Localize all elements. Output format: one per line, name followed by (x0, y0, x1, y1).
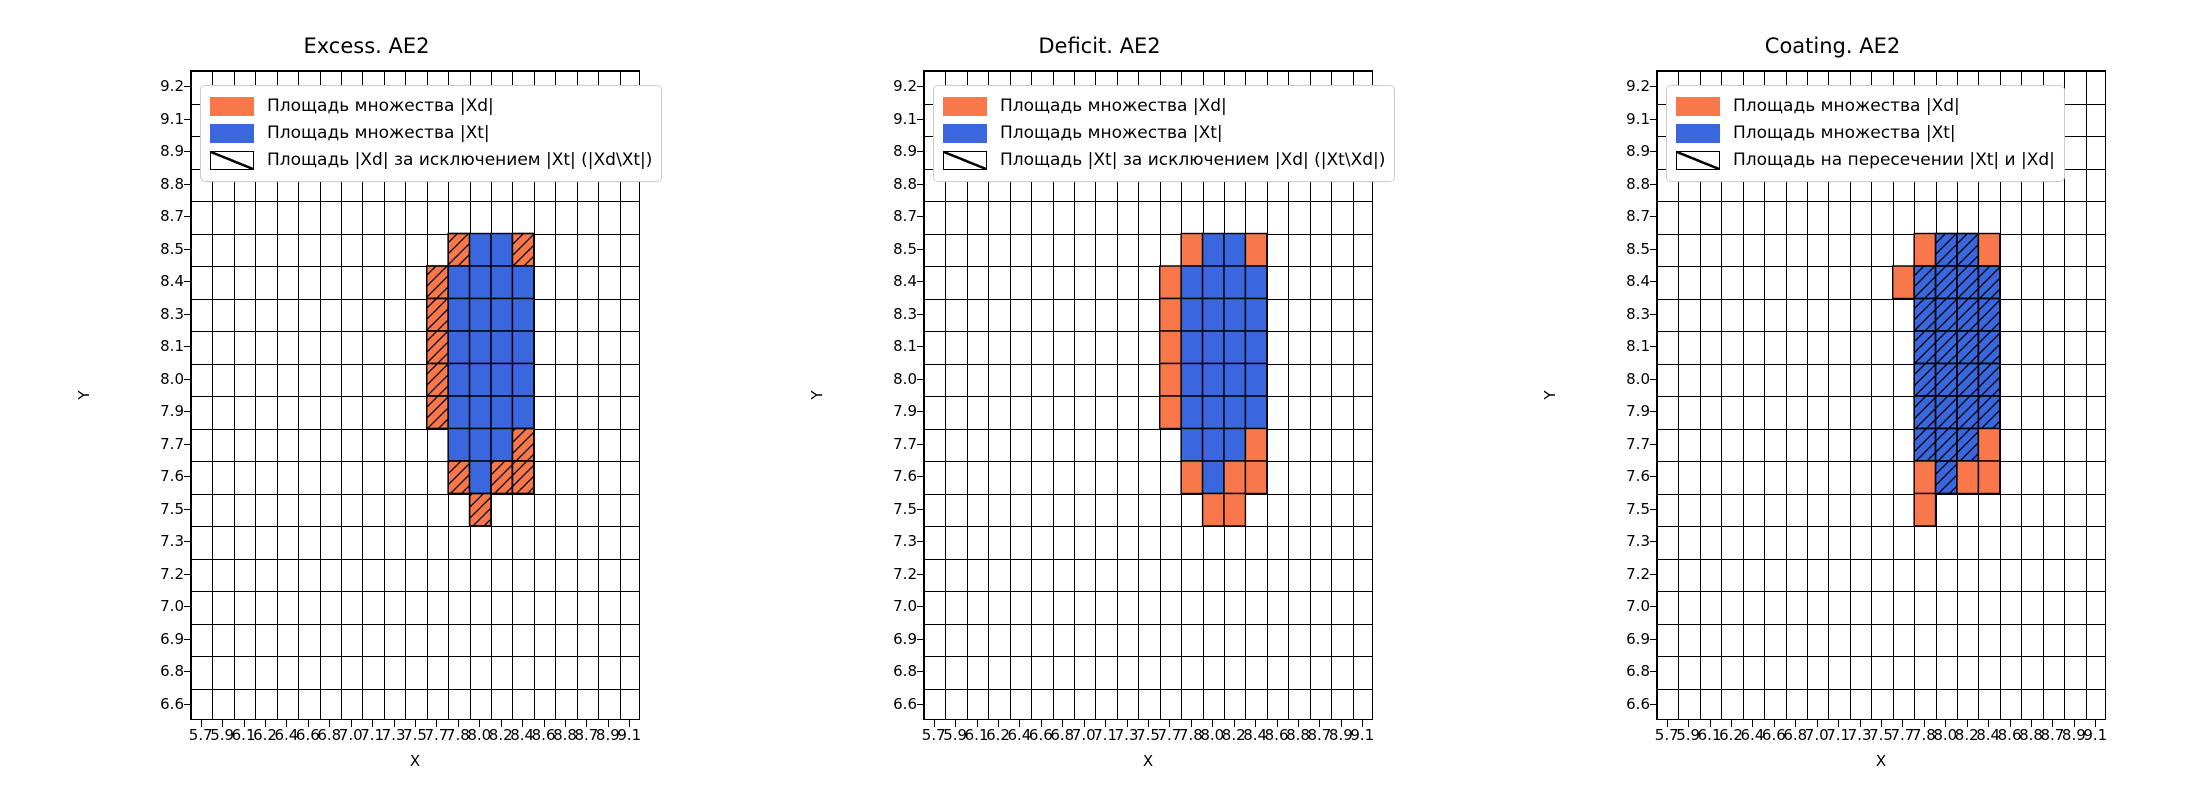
data-cell (1181, 396, 1202, 429)
y-tick-mark (184, 704, 191, 705)
data-cell (1978, 234, 1999, 267)
data-cell-hatch (1978, 299, 1999, 332)
data-cell-hatch (470, 494, 491, 527)
data-cell-hatch (427, 331, 448, 364)
data-cell (1203, 494, 1224, 527)
legend-swatch-xd-icon (943, 97, 987, 116)
x-tick-mark (1127, 720, 1128, 727)
y-tick-mark (1650, 184, 1657, 185)
x-tick-mark (1860, 720, 1861, 727)
y-tick-label: 7.3 (160, 532, 184, 550)
y-tick-mark (1650, 509, 1657, 510)
data-cell (1203, 396, 1224, 429)
data-cell (1224, 331, 1245, 364)
x-tick-mark (1255, 720, 1256, 727)
x-tick-mark (977, 720, 978, 727)
y-tick-label: 7.5 (893, 500, 917, 518)
data-cell-hatch (1957, 266, 1978, 299)
x-tick-mark (565, 720, 566, 727)
y-tick-label: 7.7 (160, 435, 184, 453)
y-tick-labels: 9.29.18.98.88.78.58.48.38.18.07.97.77.67… (863, 70, 917, 720)
y-tick-label: 7.2 (160, 565, 184, 583)
data-cell (1978, 461, 1999, 494)
x-tick-mark (351, 720, 352, 727)
x-tick-mark (415, 720, 416, 727)
x-tick-mark (1795, 720, 1796, 727)
data-cell (448, 331, 469, 364)
data-cell (1245, 234, 1266, 267)
data-cell (491, 266, 512, 299)
x-tick-label: 8.9 (596, 726, 620, 744)
data-cell-hatch (1914, 299, 1935, 332)
data-cell (1245, 364, 1266, 397)
data-cells (427, 234, 534, 527)
legend-label: Площадь |Xt| за исключением |Xd| (|Xt\Xd… (1000, 151, 1385, 170)
y-tick-mark (1650, 476, 1657, 477)
x-tick-mark (1084, 720, 1085, 727)
data-cell (1203, 429, 1224, 462)
y-tick-mark (917, 574, 924, 575)
data-cell (1160, 299, 1181, 332)
y-tick-label: 6.6 (893, 695, 917, 713)
data-cell (448, 299, 469, 332)
data-cell (1978, 429, 1999, 462)
data-cell-hatch (1936, 266, 1957, 299)
data-cell (1914, 494, 1935, 527)
data-cell (491, 364, 512, 397)
data-cell (1181, 234, 1202, 267)
data-cell (512, 266, 533, 299)
data-cell (1160, 266, 1181, 299)
y-tick-mark (917, 346, 924, 347)
x-tick-mark (1341, 720, 1342, 727)
x-tick-mark (522, 720, 523, 727)
data-cell-hatch (1957, 396, 1978, 429)
y-tick-mark (184, 574, 191, 575)
data-cell-hatch (1978, 364, 1999, 397)
x-tick-label: 9.1 (1350, 726, 1374, 744)
data-cell-hatch (1936, 331, 1957, 364)
data-cell (491, 234, 512, 267)
x-tick-label: 8.0 (1933, 726, 1957, 744)
x-tick-label: 6.6 (296, 726, 320, 744)
y-tick-mark (917, 411, 924, 412)
x-tick-mark (1902, 720, 1903, 727)
y-tick-mark (184, 151, 191, 152)
legend-label: Площадь множества |Xd| (1733, 97, 1960, 116)
x-tick-label: 6.2 (986, 726, 1010, 744)
x-tick-mark (1752, 720, 1753, 727)
data-cell (448, 266, 469, 299)
x-tick-mark (501, 720, 502, 727)
y-tick-mark (917, 639, 924, 640)
y-tick-label: 8.7 (1626, 207, 1650, 225)
y-tick-mark (1650, 671, 1657, 672)
data-cell (1224, 429, 1245, 462)
x-tick-mark (2031, 720, 2032, 727)
y-tick-label: 8.3 (160, 305, 184, 323)
x-tick-mark (1731, 720, 1732, 727)
y-tick-mark (917, 216, 924, 217)
legend-label: Площадь множества |Xd| (267, 97, 494, 116)
x-tick-label: 9.1 (2083, 726, 2107, 744)
data-cell (1245, 331, 1266, 364)
y-tick-mark (917, 671, 924, 672)
y-tick-mark (917, 704, 924, 705)
y-tick-mark (917, 509, 924, 510)
x-tick-label: 8.0 (467, 726, 491, 744)
y-tick-mark (917, 606, 924, 607)
data-cell-hatch (1914, 331, 1935, 364)
y-tick-label: 8.3 (893, 305, 917, 323)
y-tick-mark (1650, 541, 1657, 542)
data-cell (470, 331, 491, 364)
x-tick-mark (1319, 720, 1320, 727)
data-cell-hatch (448, 461, 469, 494)
data-cell (1160, 396, 1181, 429)
x-tick-label: 6.2 (253, 726, 277, 744)
y-tick-label: 8.9 (160, 142, 184, 160)
data-cell-hatch (427, 364, 448, 397)
y-tick-label: 7.7 (893, 435, 917, 453)
x-tick-label: 5.9 (1676, 726, 1700, 744)
y-tick-label: 6.9 (893, 630, 917, 648)
y-tick-label: 8.5 (893, 240, 917, 258)
data-cell (470, 299, 491, 332)
data-cell-hatch (1936, 234, 1957, 267)
x-tick-label: 7.7 (1157, 726, 1181, 744)
panel-title: Excess. AE2 (0, 34, 733, 58)
x-tick-mark (308, 720, 309, 727)
y-tick-mark (184, 444, 191, 445)
legend: Площадь множества |Xd| Площадь множества… (933, 85, 1395, 182)
legend-item[interactable]: Площадь |Xd| за исключением |Xt| (|Xd\Xt… (210, 147, 652, 174)
x-tick-mark (201, 720, 202, 727)
x-tick-label: 7.7 (1890, 726, 1914, 744)
x-tick-mark (934, 720, 935, 727)
x-tick-label: 7.8 (1912, 726, 1936, 744)
legend-swatch-hatch-icon (943, 151, 987, 170)
x-tick-label: 6.1 (965, 726, 989, 744)
x-tick-mark (244, 720, 245, 727)
data-cell (1224, 461, 1245, 494)
data-cell-hatch (512, 461, 533, 494)
y-tick-label: 7.0 (1626, 597, 1650, 615)
y-tick-label: 8.7 (160, 207, 184, 225)
x-tick-mark (1277, 720, 1278, 727)
x-tick-label: 8.2 (1222, 726, 1246, 744)
data-cell (491, 396, 512, 429)
x-tick-label: 8.4 (510, 726, 534, 744)
x-tick-label: 7.1 (1093, 726, 1117, 744)
y-tick-mark (1650, 639, 1657, 640)
y-tick-label: 9.1 (160, 110, 184, 128)
panel-excess: Excess. AE2 Y 9.29.18.98.88.78.58.48.38.… (0, 0, 733, 800)
legend-item[interactable]: Площадь множества |Xt| (943, 120, 1385, 147)
legend-label: Площадь множества |Xt| (1733, 124, 1956, 143)
x-tick-labels: 5.75.96.16.26.46.66.87.07.17.37.57.77.88… (923, 726, 1373, 750)
y-tick-mark (1650, 606, 1657, 607)
x-tick-label: 8.2 (1955, 726, 1979, 744)
x-tick-mark (2095, 720, 2096, 727)
data-cell (470, 266, 491, 299)
data-cell (448, 396, 469, 429)
x-tick-mark (1710, 720, 1711, 727)
y-tick-labels: 9.29.18.98.88.78.58.48.38.18.07.97.77.67… (130, 70, 184, 720)
data-cell-hatch (1936, 429, 1957, 462)
x-tick-mark (1838, 720, 1839, 727)
y-tick-mark (184, 86, 191, 87)
y-tick-label: 6.9 (160, 630, 184, 648)
x-tick-label: 6.6 (1029, 726, 1053, 744)
data-cell (470, 461, 491, 494)
x-tick-mark (1967, 720, 1968, 727)
y-tick-mark (917, 476, 924, 477)
legend-item[interactable]: Площадь множества |Xt| (1676, 120, 2055, 147)
y-axis-label: Y (808, 390, 826, 399)
data-cell (1957, 461, 1978, 494)
legend-swatch-xt-icon (943, 124, 987, 143)
x-tick-label: 5.9 (210, 726, 234, 744)
x-tick-label: 8.7 (574, 726, 598, 744)
data-cell-hatch (1936, 364, 1957, 397)
data-cell (512, 299, 533, 332)
legend-item[interactable]: Площадь множества |Xt| (210, 120, 652, 147)
x-tick-label: 8.9 (2062, 726, 2086, 744)
data-cell-hatch (512, 234, 533, 267)
y-tick-label: 8.3 (1626, 305, 1650, 323)
x-tick-label: 8.8 (1286, 726, 1310, 744)
data-cell (1160, 331, 1181, 364)
x-axis-label: X (923, 752, 1373, 770)
x-tick-mark (1148, 720, 1149, 727)
y-tick-mark (917, 249, 924, 250)
x-tick-label: 8.6 (1265, 726, 1289, 744)
x-tick-mark (2052, 720, 2053, 727)
legend-label: Площадь множества |Xd| (1000, 97, 1227, 116)
y-tick-mark (184, 379, 191, 380)
x-tick-mark (1881, 720, 1882, 727)
legend-swatch-hatch-icon (1676, 151, 1720, 170)
x-tick-label: 7.1 (360, 726, 384, 744)
y-tick-mark (184, 119, 191, 120)
x-tick-label: 7.3 (1115, 726, 1139, 744)
data-cell (1203, 266, 1224, 299)
x-tick-label: 8.7 (2040, 726, 2064, 744)
x-tick-label: 6.4 (1007, 726, 1031, 744)
y-tick-label: 8.4 (893, 272, 917, 290)
data-cell (1203, 331, 1224, 364)
y-tick-mark (184, 346, 191, 347)
x-tick-mark (329, 720, 330, 727)
x-tick-label: 6.1 (232, 726, 256, 744)
x-tick-label: 6.8 (1050, 726, 1074, 744)
x-tick-mark (1688, 720, 1689, 727)
x-tick-label: 5.7 (922, 726, 946, 744)
x-tick-mark (394, 720, 395, 727)
x-tick-label: 8.8 (2019, 726, 2043, 744)
y-tick-label: 8.1 (160, 337, 184, 355)
legend-item[interactable]: Площадь на пересечении |Xt| и |Xd| (1676, 147, 2055, 174)
data-cell (470, 396, 491, 429)
x-tick-label: 7.0 (1072, 726, 1096, 744)
y-tick-mark (184, 249, 191, 250)
x-tick-label: 8.9 (1329, 726, 1353, 744)
y-tick-mark (1650, 314, 1657, 315)
x-axis-label: X (190, 752, 640, 770)
y-tick-label: 7.0 (893, 597, 917, 615)
data-cell (491, 299, 512, 332)
x-tick-mark (1924, 720, 1925, 727)
x-tick-label: 7.0 (1805, 726, 1829, 744)
x-tick-labels: 5.75.96.16.26.46.66.87.07.17.37.57.77.88… (1656, 726, 2106, 750)
data-cell-hatch (1957, 299, 1978, 332)
y-tick-mark (1650, 86, 1657, 87)
y-tick-label: 7.9 (1626, 402, 1650, 420)
x-tick-mark (458, 720, 459, 727)
x-tick-label: 6.2 (1719, 726, 1743, 744)
y-tick-mark (184, 281, 191, 282)
y-tick-label: 8.1 (893, 337, 917, 355)
legend-swatch-xd-icon (210, 97, 254, 116)
data-cell (1893, 266, 1914, 299)
x-tick-label: 6.4 (1740, 726, 1764, 744)
legend-item[interactable]: Площадь множества |Xd| (210, 93, 652, 120)
y-tick-label: 8.5 (1626, 240, 1650, 258)
y-tick-mark (184, 216, 191, 217)
y-tick-mark (1650, 379, 1657, 380)
x-tick-mark (222, 720, 223, 727)
y-tick-label: 8.7 (893, 207, 917, 225)
data-cell (1203, 234, 1224, 267)
panel-deficit: Deficit. AE2 Y 9.29.18.98.88.78.58.48.38… (733, 0, 1466, 800)
x-tick-mark (629, 720, 630, 727)
y-tick-label: 7.3 (1626, 532, 1650, 550)
data-cell-hatch (448, 234, 469, 267)
data-cell (491, 331, 512, 364)
x-tick-label: 7.5 (1869, 726, 1893, 744)
x-tick-mark (1191, 720, 1192, 727)
legend: Площадь множества |Xd| Площадь множества… (200, 85, 662, 182)
panel-coating: Coating. AE2 Y 9.29.18.98.88.78.58.48.38… (1466, 0, 2199, 800)
y-tick-label: 6.8 (160, 662, 184, 680)
x-tick-mark (1062, 720, 1063, 727)
data-cells (1160, 234, 1267, 527)
x-tick-label: 8.6 (1998, 726, 2022, 744)
data-cell (470, 429, 491, 462)
data-cell (448, 429, 469, 462)
data-cell (448, 364, 469, 397)
x-tick-label: 8.2 (489, 726, 513, 744)
y-tick-mark (917, 379, 924, 380)
legend-label: Площадь на пересечении |Xt| и |Xd| (1733, 151, 2055, 170)
y-tick-mark (184, 509, 191, 510)
x-tick-labels: 5.75.96.16.26.46.66.87.07.17.37.57.77.88… (190, 726, 640, 750)
data-cell (1181, 299, 1202, 332)
x-axis-label: X (1656, 752, 2106, 770)
legend-swatch-xd-icon (1676, 97, 1720, 116)
x-tick-mark (372, 720, 373, 727)
y-tick-mark (1650, 119, 1657, 120)
data-cell (1224, 364, 1245, 397)
data-cells (1893, 234, 2000, 527)
legend-item[interactable]: Площадь |Xt| за исключением |Xd| (|Xt\Xd… (943, 147, 1385, 174)
x-tick-label: 8.6 (532, 726, 556, 744)
data-cell-hatch (1914, 266, 1935, 299)
x-tick-label: 6.8 (1783, 726, 1807, 744)
y-tick-mark (1650, 346, 1657, 347)
y-tick-label: 7.2 (1626, 565, 1650, 583)
y-tick-label: 7.0 (160, 597, 184, 615)
y-tick-mark (184, 541, 191, 542)
data-cell-hatch (1936, 299, 1957, 332)
y-tick-mark (184, 639, 191, 640)
data-cell (1224, 299, 1245, 332)
y-tick-label: 9.2 (1626, 77, 1650, 95)
y-tick-label: 8.8 (1626, 175, 1650, 193)
y-tick-label: 9.1 (893, 110, 917, 128)
data-cell-hatch (1914, 396, 1935, 429)
y-tick-label: 6.6 (160, 695, 184, 713)
x-tick-mark (608, 720, 609, 727)
y-tick-label: 8.5 (160, 240, 184, 258)
legend: Площадь множества |Xd| Площадь множества… (1666, 85, 2065, 182)
y-tick-label: 7.3 (893, 532, 917, 550)
data-cell (1224, 234, 1245, 267)
y-tick-mark (917, 151, 924, 152)
y-tick-mark (917, 444, 924, 445)
x-tick-mark (479, 720, 480, 727)
data-cell (1203, 461, 1224, 494)
x-tick-mark (1817, 720, 1818, 727)
y-tick-label: 8.4 (160, 272, 184, 290)
y-tick-label: 8.9 (893, 142, 917, 160)
panel-title: Deficit. AE2 (733, 34, 1466, 58)
x-tick-label: 6.4 (274, 726, 298, 744)
x-tick-label: 6.1 (1698, 726, 1722, 744)
y-tick-label: 7.7 (1626, 435, 1650, 453)
y-tick-mark (1650, 249, 1657, 250)
data-cell (470, 364, 491, 397)
y-tick-mark (917, 314, 924, 315)
y-tick-mark (184, 411, 191, 412)
x-tick-label: 8.7 (1307, 726, 1331, 744)
y-tick-label: 7.9 (893, 402, 917, 420)
legend-swatch-xt-icon (1676, 124, 1720, 143)
x-tick-label: 6.6 (1762, 726, 1786, 744)
legend-item[interactable]: Площадь множества |Xd| (1676, 93, 2055, 120)
y-tick-mark (917, 86, 924, 87)
x-tick-mark (1988, 720, 1989, 727)
data-cell (470, 234, 491, 267)
y-tick-label: 6.6 (1626, 695, 1650, 713)
y-tick-label: 7.2 (893, 565, 917, 583)
y-tick-label: 7.6 (1626, 467, 1650, 485)
y-tick-label: 8.0 (893, 370, 917, 388)
data-cell (491, 429, 512, 462)
y-tick-label: 7.5 (1626, 500, 1650, 518)
legend-item[interactable]: Площадь множества |Xd| (943, 93, 1385, 120)
x-tick-mark (544, 720, 545, 727)
x-tick-label: 8.0 (1200, 726, 1224, 744)
x-tick-label: 7.1 (1826, 726, 1850, 744)
data-cell-hatch (1978, 266, 1999, 299)
legend-label: Площадь |Xd| за исключением |Xt| (|Xd\Xt… (267, 151, 652, 170)
y-tick-mark (184, 606, 191, 607)
x-tick-mark (1945, 720, 1946, 727)
data-cell (512, 364, 533, 397)
data-cell-hatch (1936, 396, 1957, 429)
